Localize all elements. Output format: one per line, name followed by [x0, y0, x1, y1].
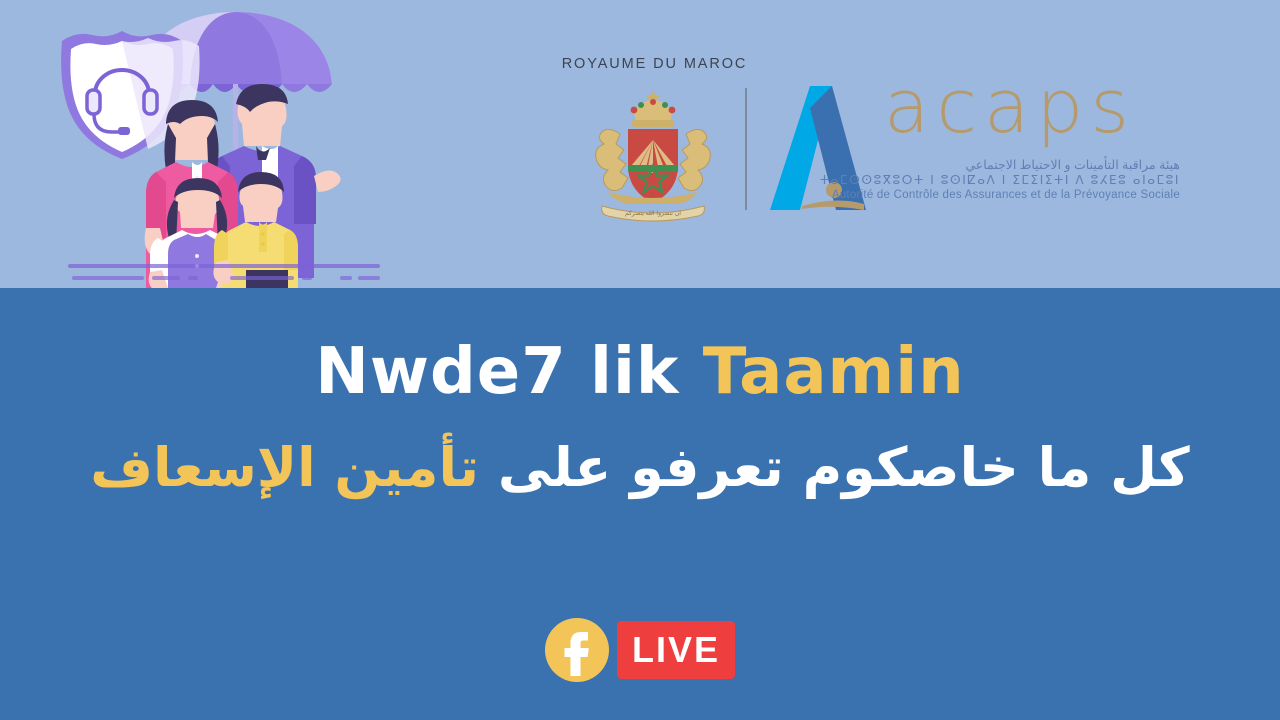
facebook-live-badge[interactable]: LIVE — [545, 615, 741, 685]
live-label[interactable]: LIVE — [617, 621, 735, 679]
facebook-f-icon[interactable] — [545, 618, 609, 682]
acaps-logo-block: acaps هيئة مراقبة التأمينات و الاحتياط ا… — [758, 66, 1178, 231]
subheadline: كل ما خاصكوم تعرفو على تأمين الإسعاف — [0, 430, 1280, 506]
acaps-subtitle-arabic: هيئة مراقبة التأمينات و الاحتياط الاجتما… — [762, 158, 1180, 173]
acaps-subtitle-group: هيئة مراقبة التأمينات و الاحتياط الاجتما… — [762, 158, 1180, 203]
lockup-divider — [745, 88, 747, 210]
poster-canvas: ROYAUME DU MAROC — [0, 0, 1280, 720]
acaps-subtitle-french: Autorité de Contrôle des Assurances et d… — [762, 188, 1180, 203]
subheadline-yellow-part: تأمين الإسعاف — [90, 436, 479, 499]
institutional-lockup: ROYAUME DU MAROC — [540, 48, 1180, 228]
family-umbrella-illustration — [40, 6, 410, 288]
acaps-subtitle-tifinagh: ⵜⴰⵎⵙⵙⵓⴳⵓⵔⵜ ⵏ ⵓⵙⵏⵇⴰⴷ ⵏ ⵉⵎⵉⵏⵉⵜⵏ ⴷ ⵓⵃⴹⵓ ⴰⵏⴰ… — [762, 173, 1180, 188]
morocco-coat-of-arms-icon: ان تنصروا الله ينصركم — [568, 82, 738, 222]
headline-yellow-part: Taamin — [703, 335, 965, 409]
svg-text:ان تنصروا الله ينصركم: ان تنصروا الله ينصركم — [625, 210, 681, 217]
headline: Nwde7 lik Taamin — [0, 336, 1280, 408]
headline-white-part: Nwde7 lik — [315, 335, 679, 409]
acaps-wordmark: acaps — [884, 70, 1136, 144]
royaume-du-maroc-label: ROYAUME DU MAROC — [552, 56, 757, 72]
subheadline-white-part: كل ما خاصكوم تعرفو على — [498, 436, 1190, 499]
